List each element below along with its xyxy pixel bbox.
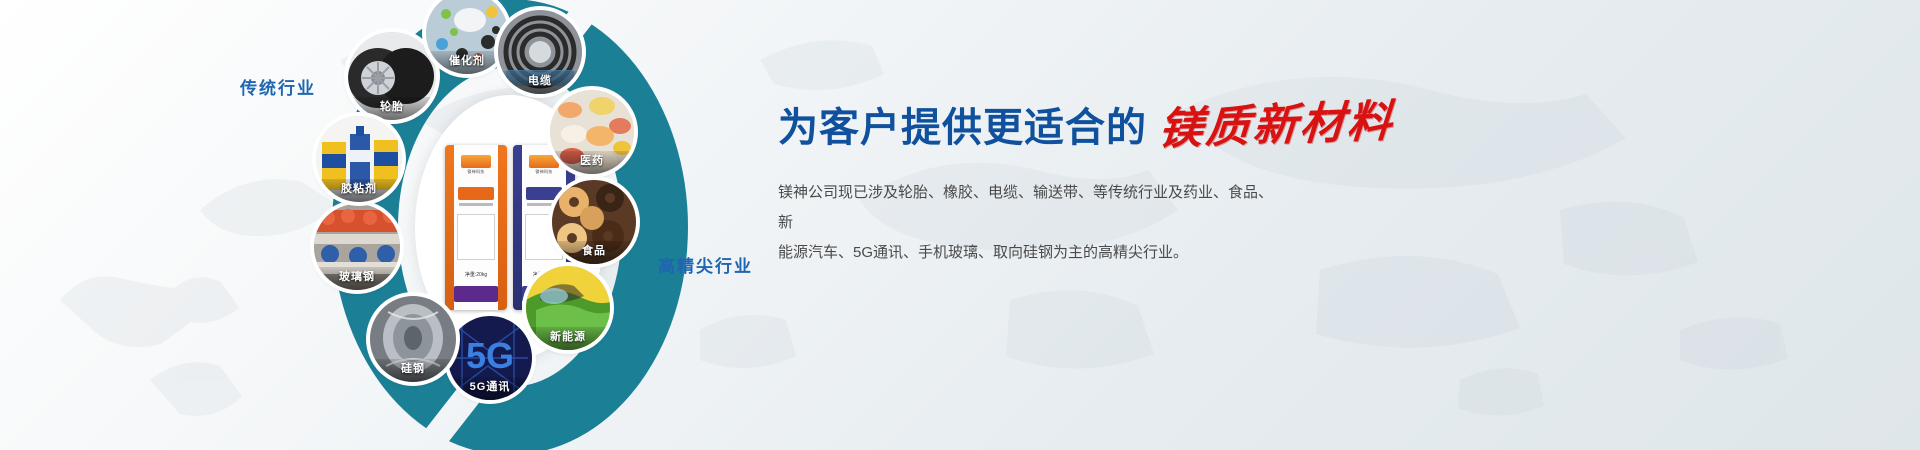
bubble-5g[interactable]: 5G 5G通讯 xyxy=(448,316,532,400)
bubble-label-pharma: 医药 xyxy=(550,151,634,174)
headline-accent-text: 镁质新材料 xyxy=(1157,100,1396,152)
bubble-label-5g: 5G通讯 xyxy=(448,377,532,400)
bubble-adhesive[interactable]: 胶粘剂 xyxy=(316,116,402,202)
ring-label-traditional-industries: 传统行业 xyxy=(240,74,316,99)
ring-label-advanced-industries: 高精尖行业 xyxy=(658,252,753,277)
bubble-label-catalyst: 催化剂 xyxy=(426,51,508,74)
bubble-catalyst[interactable]: 催化剂 xyxy=(426,0,508,74)
banner-copy-block: 为客户提供更适合的 镁质新材料 镁神公司现已涉及轮胎、橡胶、电缆、输送带、等传统… xyxy=(778,104,1498,268)
industry-ring-infographic: 镁神科技 净重:20kg 镁神科技 净重:20kg xyxy=(300,0,720,450)
headline-main-text: 为客户提供更适合的 xyxy=(778,108,1147,148)
bubble-frp[interactable]: 玻璃钢 xyxy=(314,204,400,290)
bubble-new-energy[interactable]: 新能源 xyxy=(526,266,610,350)
bubble-food[interactable]: 食品 xyxy=(552,180,636,264)
body-copy-line-1: 镁神公司现已涉及轮胎、橡胶、电缆、输送带、等传统行业及药业、食品、新 xyxy=(778,178,1278,238)
product-bag-left: 镁神科技 净重:20kg xyxy=(445,145,507,310)
bubble-label-new-energy: 新能源 xyxy=(526,327,610,350)
bubble-tire[interactable]: 轮胎 xyxy=(348,32,436,120)
bubble-label-food: 食品 xyxy=(552,241,636,264)
bubble-label-adhesive: 胶粘剂 xyxy=(316,179,402,202)
headline: 为客户提供更适合的 镁质新材料 xyxy=(778,104,1498,148)
bubble-label-silicon-steel: 硅钢 xyxy=(370,359,456,382)
body-copy-line-2: 能源汽车、5G通讯、手机玻璃、取向硅钢为主的高精尖行业。 xyxy=(778,238,1278,268)
bag-left-net-weight: 净重:20kg xyxy=(465,271,487,278)
bubble-pharma[interactable]: 医药 xyxy=(550,90,634,174)
bag-left-brand: 镁神科技 xyxy=(467,169,484,175)
bubble-cable[interactable]: 电缆 xyxy=(498,10,582,94)
body-copy: 镁神公司现已涉及轮胎、橡胶、电缆、输送带、等传统行业及药业、食品、新 能源汽车、… xyxy=(778,178,1278,268)
svg-text:5G: 5G xyxy=(466,335,514,376)
bubble-label-frp: 玻璃钢 xyxy=(314,267,400,290)
bubble-silicon-steel[interactable]: 硅钢 xyxy=(370,296,456,382)
